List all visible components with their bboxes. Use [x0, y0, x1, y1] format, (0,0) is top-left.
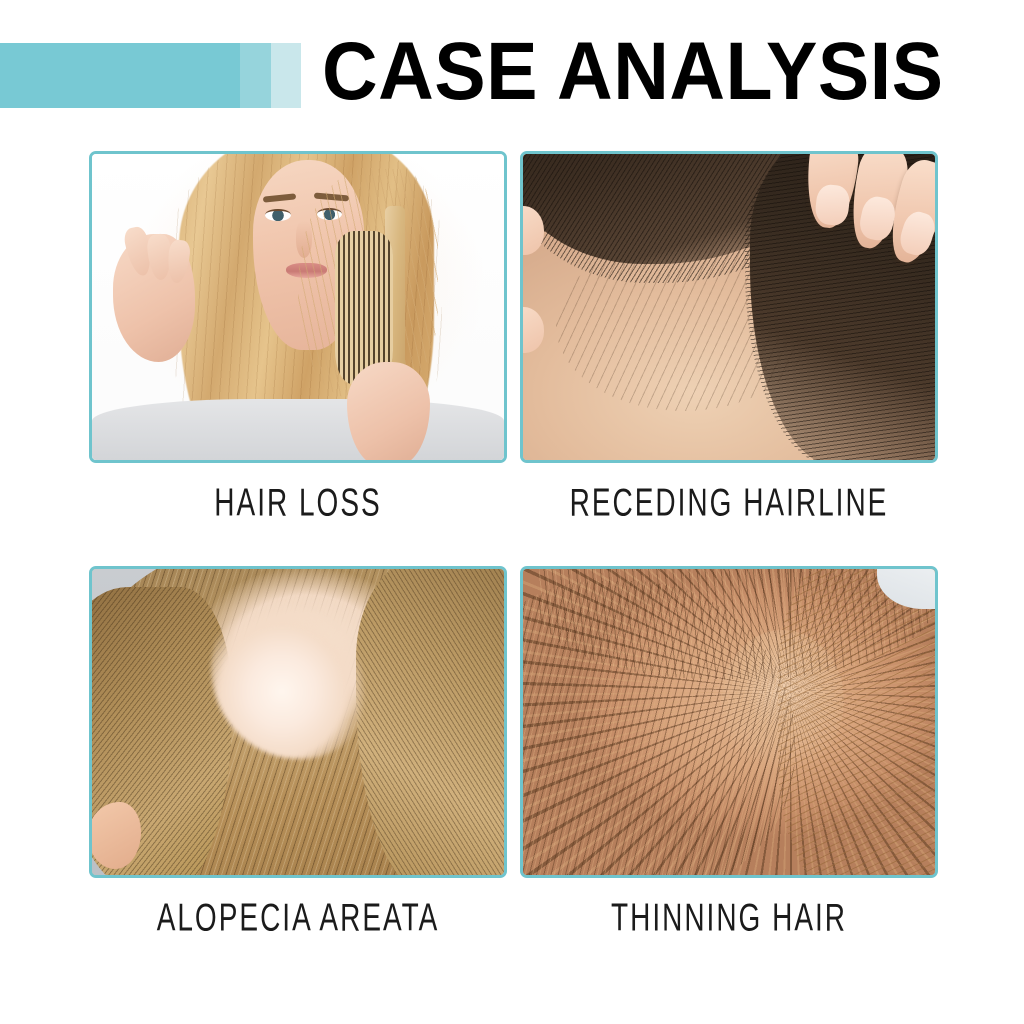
photo-frame-alopecia-areata[interactable]: [89, 566, 507, 878]
case-card-thinning-hair[interactable]: THINNING HAIR: [520, 566, 938, 936]
accent-bar-segment-light: [271, 43, 301, 108]
accent-bar-segment-main: [0, 43, 240, 108]
case-card-alopecia-areata[interactable]: ALOPECIA AREATA: [89, 566, 507, 936]
photo-thinning-hair: [523, 569, 935, 875]
accent-bar-segment-mid: [240, 43, 271, 108]
header-accent-bar: [0, 43, 301, 108]
case-caption-hair-loss: HAIR LOSS: [131, 481, 465, 526]
case-caption-thinning-hair: THINNING HAIR: [562, 896, 896, 941]
photo-frame-hair-loss[interactable]: [89, 151, 507, 463]
case-caption-receding-hairline: RECEDING HAIRLINE: [562, 481, 896, 526]
photo-hair-loss: [92, 154, 504, 460]
case-card-receding-hairline[interactable]: RECEDING HAIRLINE: [520, 151, 938, 521]
page-title: CASE ANALYSIS: [322, 27, 943, 117]
photo-frame-thinning-hair[interactable]: [520, 566, 938, 878]
photo-frame-receding-hairline[interactable]: [520, 151, 938, 463]
case-grid: HAIR LOSS RECEDING HAIRLINE: [0, 140, 1024, 1024]
photo-alopecia-areata: [92, 569, 504, 875]
header: CASE ANALYSIS: [0, 0, 1024, 140]
photo-receding-hairline: [523, 154, 935, 460]
case-caption-alopecia-areata: ALOPECIA AREATA: [131, 896, 465, 941]
case-card-hair-loss[interactable]: HAIR LOSS: [89, 151, 507, 521]
